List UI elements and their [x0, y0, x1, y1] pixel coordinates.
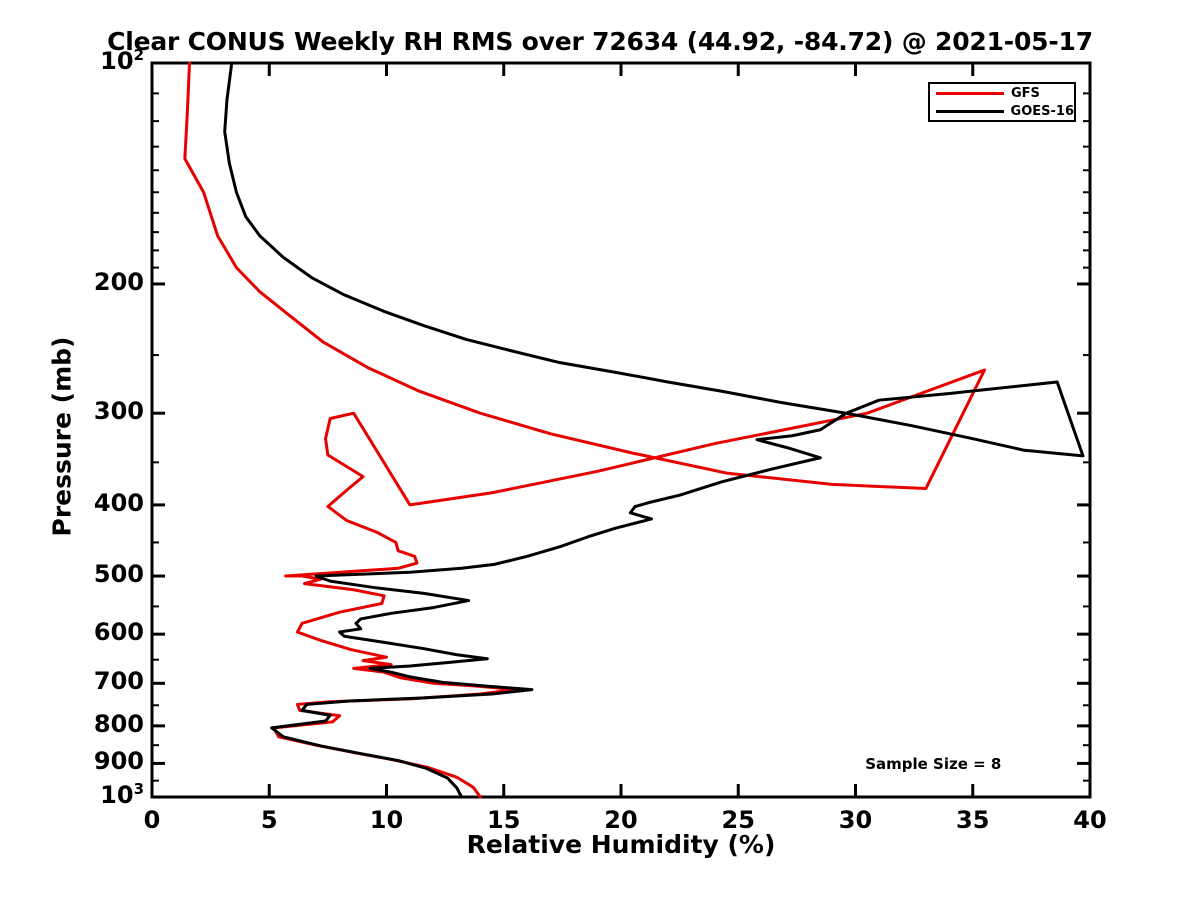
series-line-gfs	[185, 63, 985, 797]
legend-color-swatch	[936, 92, 1004, 95]
y-tick-label: 800	[94, 710, 144, 738]
y-tick-label: 600	[94, 618, 144, 646]
chart-figure: Clear CONUS Weekly RH RMS over 72634 (44…	[0, 0, 1200, 900]
y-axis-title: Pressure (mb)	[48, 337, 77, 537]
y-tick-label: 300	[94, 397, 144, 425]
plot-frame	[152, 63, 1090, 797]
axes	[152, 63, 1090, 797]
x-axis-title: Relative Humidity (%)	[152, 830, 1090, 859]
chart-legend: GFS GOES-16	[928, 82, 1076, 122]
legend-entry-gfs: GFS	[936, 84, 1074, 102]
y-tick-label: 700	[94, 667, 144, 695]
plot-canvas	[0, 0, 1200, 900]
legend-entry-label: GOES-16	[1011, 104, 1074, 119]
y-tick-label: 103	[100, 781, 144, 809]
y-tick-label: 200	[94, 268, 144, 296]
legend-entry-label: GFS	[1011, 86, 1040, 101]
y-tick-label: 400	[94, 489, 144, 517]
y-tick-label: 500	[94, 560, 144, 588]
y-tick-label: 102	[100, 47, 144, 75]
sample-size-annotation: Sample Size = 8	[865, 755, 1001, 773]
legend-color-swatch	[936, 110, 1004, 113]
legend-entry-goes16: GOES-16	[936, 102, 1074, 120]
data-series-group	[185, 63, 1083, 797]
y-tick-label: 900	[94, 747, 144, 775]
